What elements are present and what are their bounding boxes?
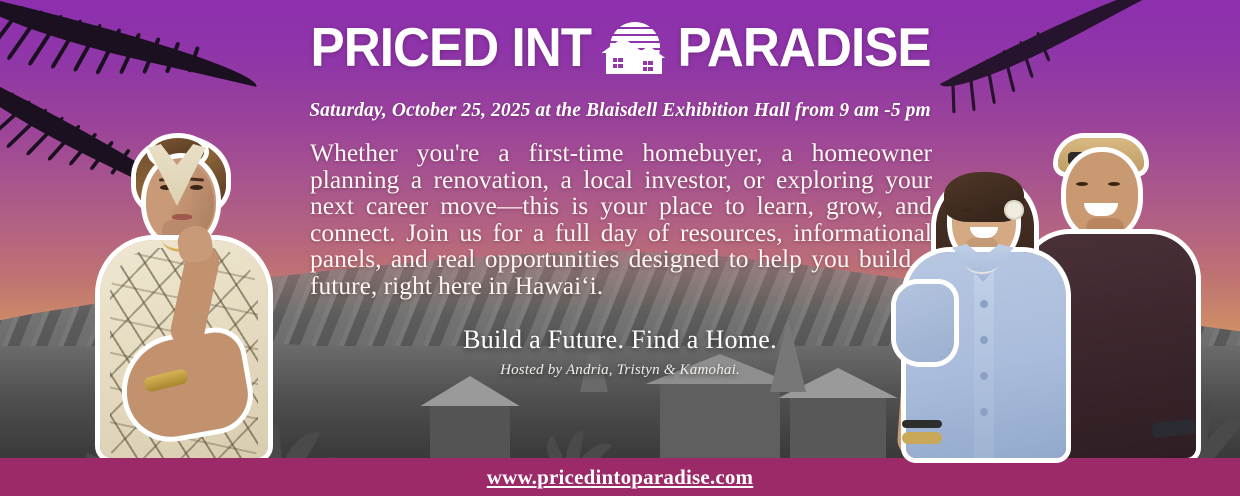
- shirt-placket: [974, 262, 994, 458]
- title-text-right: PARADISE: [677, 20, 930, 75]
- shirt-button: [980, 372, 988, 380]
- footer-bar: www.pricedintoparadise.com: [0, 458, 1240, 496]
- gold-bracelet: [902, 432, 942, 444]
- shirt-button: [980, 300, 988, 308]
- event-date-venue-line: Saturday, October 25, 2025 at the Blaisd…: [0, 100, 1240, 122]
- portrait-woman-left: [86, 140, 284, 458]
- website-url-link[interactable]: www.pricedintoparadise.com: [487, 465, 754, 490]
- portrait-couple-right: [900, 128, 1200, 458]
- eye: [1076, 182, 1088, 186]
- eye: [990, 208, 1001, 212]
- banner-title: PRICED INT PARADISE: [0, 16, 1240, 75]
- shirt-button: [980, 336, 988, 344]
- eye: [1108, 182, 1120, 186]
- title-text-left: PRICED INT: [311, 20, 592, 75]
- shirt-button: [980, 408, 988, 416]
- eye: [962, 208, 973, 212]
- hair-flower: [1004, 200, 1024, 220]
- priced-into-paradise-banner: PRICED INT PARADISE Saturday, October 25…: [0, 0, 1240, 496]
- hand: [176, 224, 215, 264]
- shirt-sleeve: [896, 284, 954, 362]
- event-description-paragraph: Whether you're a first-time homebuyer, a…: [310, 140, 932, 299]
- black-band: [902, 420, 942, 428]
- eye: [190, 185, 203, 190]
- necklace: [966, 254, 998, 274]
- sun-house-logo-icon: [604, 22, 666, 74]
